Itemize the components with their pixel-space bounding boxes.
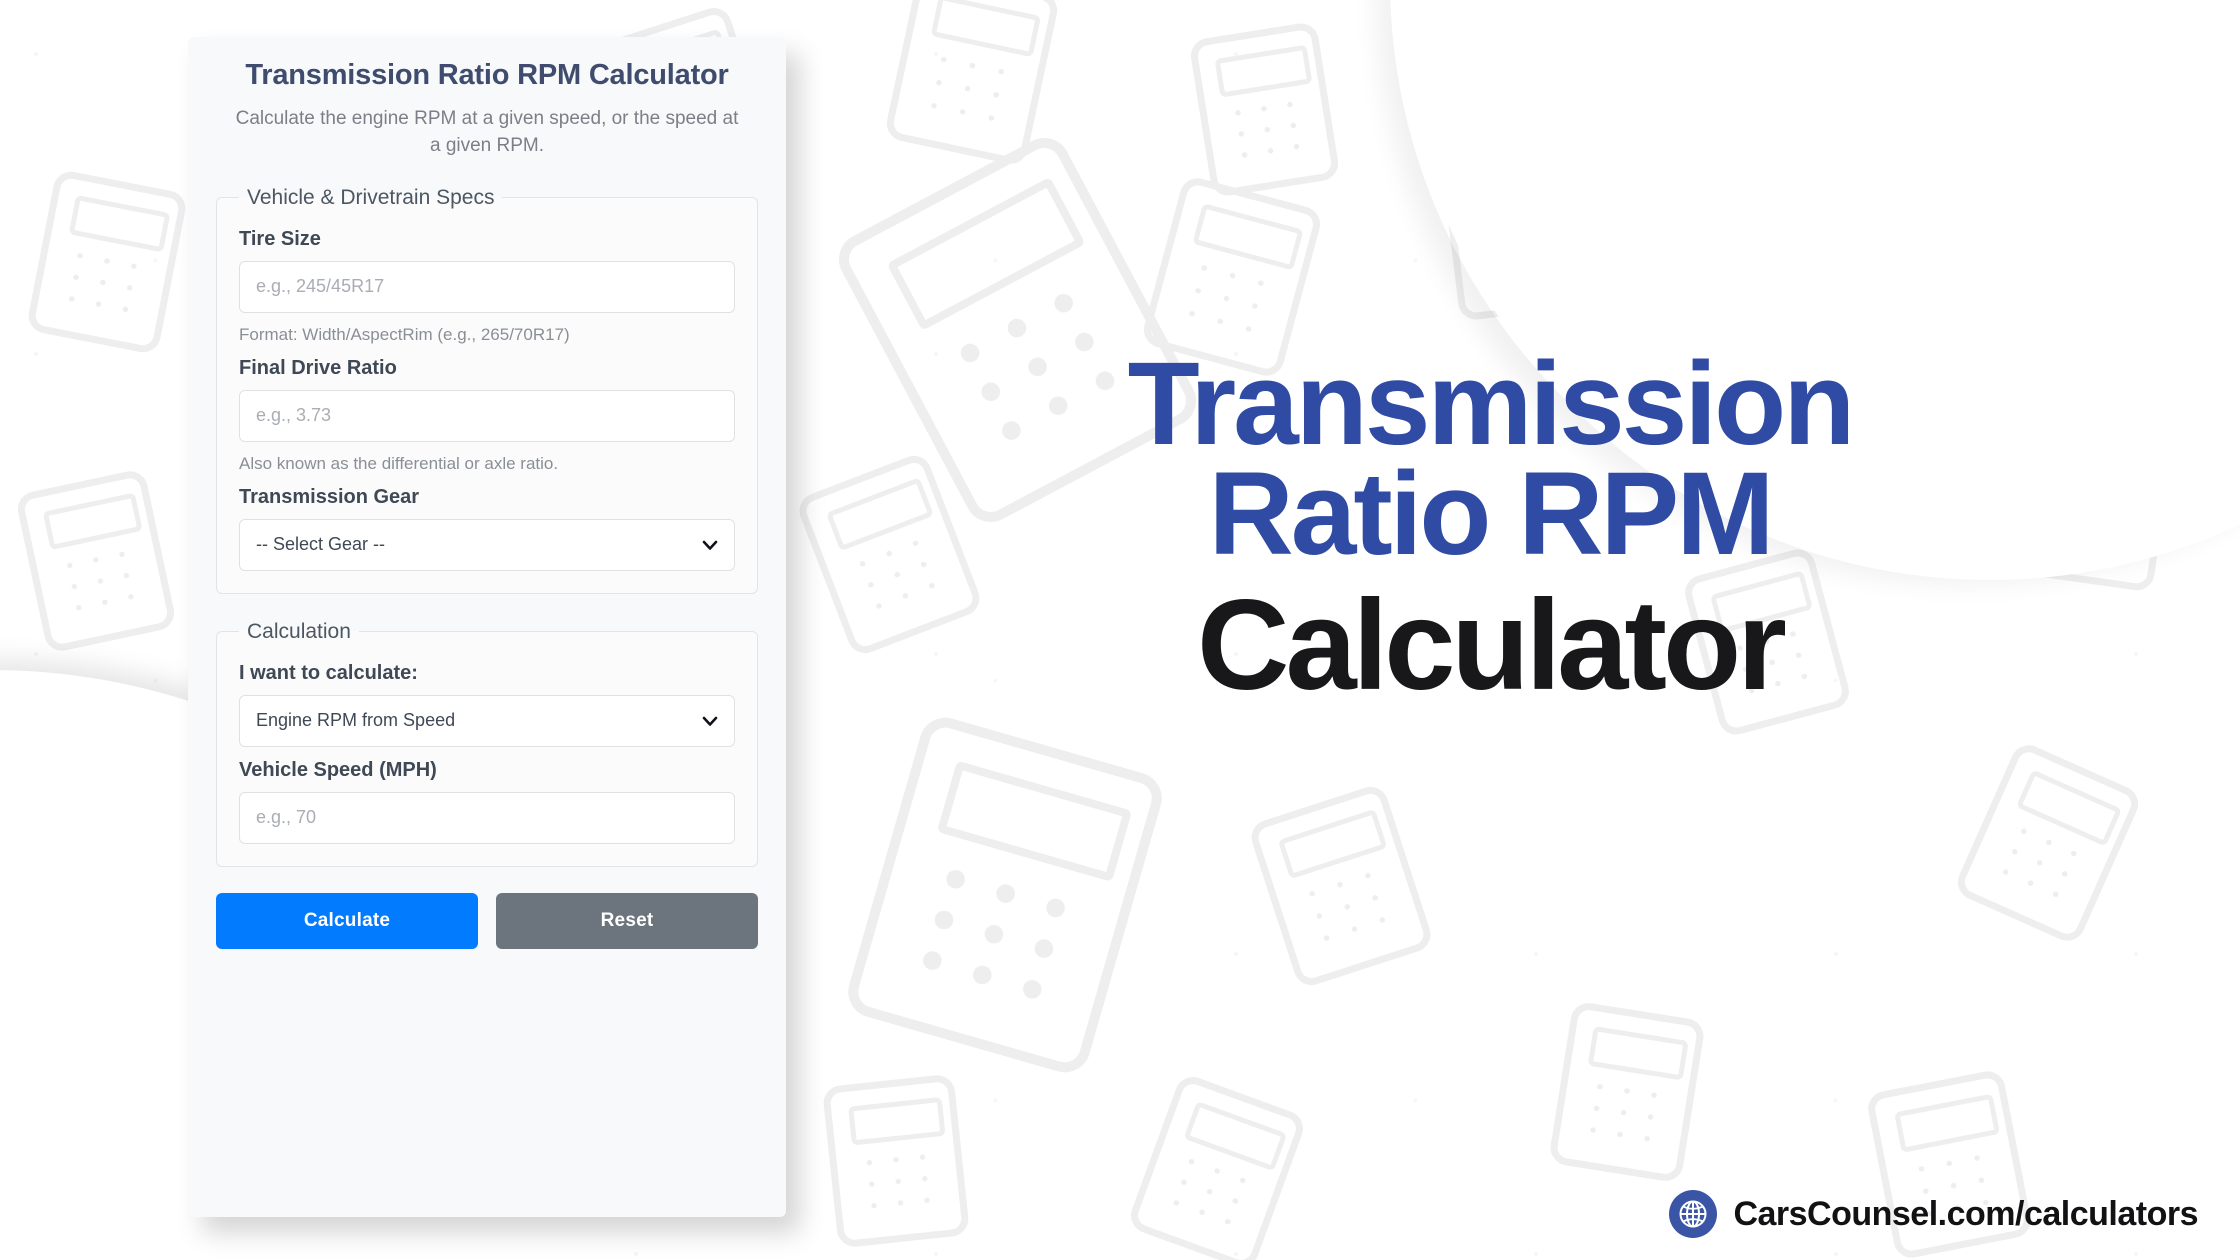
calculator-icon: [1188, 21, 1340, 198]
calculator-icon: [1126, 1072, 1308, 1260]
calculator-icon: [1952, 740, 2144, 947]
globe-icon: [1669, 1190, 1717, 1238]
transmission-gear-select-wrap: -- Select Gear --: [239, 519, 735, 571]
page-title: Transmission Ratio RPM Calculator: [216, 59, 758, 92]
footer-branding: CarsCounsel.com/calculators: [1669, 1190, 2198, 1238]
calculator-icon: [822, 1074, 970, 1249]
footer-url-text: CarsCounsel.com/calculators: [1733, 1195, 2198, 1234]
headline-line-1: Transmission: [1000, 350, 1980, 460]
vehicle-speed-input[interactable]: [239, 792, 735, 844]
tire-size-label: Tire Size: [239, 228, 735, 251]
transmission-gear-label: Transmission Gear: [239, 486, 735, 509]
calculator-icon: [1247, 782, 1435, 989]
page-subtitle: Calculate the engine RPM at a given spee…: [232, 106, 741, 160]
headline-line-3: Calculator: [1000, 585, 1980, 708]
transmission-gear-selected-value: -- Select Gear --: [256, 534, 385, 555]
transmission-gear-select[interactable]: -- Select Gear --: [239, 519, 735, 571]
calculator-card: Transmission Ratio RPM Calculator Calcul…: [188, 37, 786, 1217]
reset-button[interactable]: Reset: [496, 893, 758, 949]
promo-banner: Transmission Ratio RPM Calculator Calcul…: [0, 0, 2240, 1260]
promo-headline: Transmission Ratio RPM Calculator: [1000, 350, 1980, 708]
final-drive-ratio-label: Final Drive Ratio: [239, 357, 735, 380]
calculation-legend: Calculation: [239, 620, 359, 644]
vehicle-speed-label: Vehicle Speed (MPH): [239, 759, 735, 782]
calculator-icon: [1548, 1001, 1706, 1184]
calculator-icon: [842, 712, 1168, 1079]
calculation-group: Calculation I want to calculate: Engine …: [216, 620, 758, 867]
tire-size-input[interactable]: [239, 261, 735, 313]
final-drive-ratio-hint: Also known as the differential or axle r…: [239, 454, 735, 474]
specs-legend: Vehicle & Drivetrain Specs: [239, 186, 502, 210]
calculator-icon: [26, 169, 189, 356]
tire-size-hint: Format: Width/AspectRim (e.g., 265/70R17…: [239, 325, 735, 345]
headline-line-2: Ratio RPM: [1000, 460, 1980, 570]
calculate-mode-selected-value: Engine RPM from Speed: [256, 710, 455, 731]
calculate-mode-label: I want to calculate:: [239, 662, 735, 685]
calculator-icon: [15, 468, 178, 654]
calculate-mode-select[interactable]: Engine RPM from Speed: [239, 695, 735, 747]
final-drive-ratio-input[interactable]: [239, 390, 735, 442]
action-button-row: Calculate Reset: [216, 893, 758, 949]
vehicle-drivetrain-specs-group: Vehicle & Drivetrain Specs Tire Size For…: [216, 186, 758, 594]
calculate-button[interactable]: Calculate: [216, 893, 478, 949]
calculate-mode-select-wrap: Engine RPM from Speed: [239, 695, 735, 747]
